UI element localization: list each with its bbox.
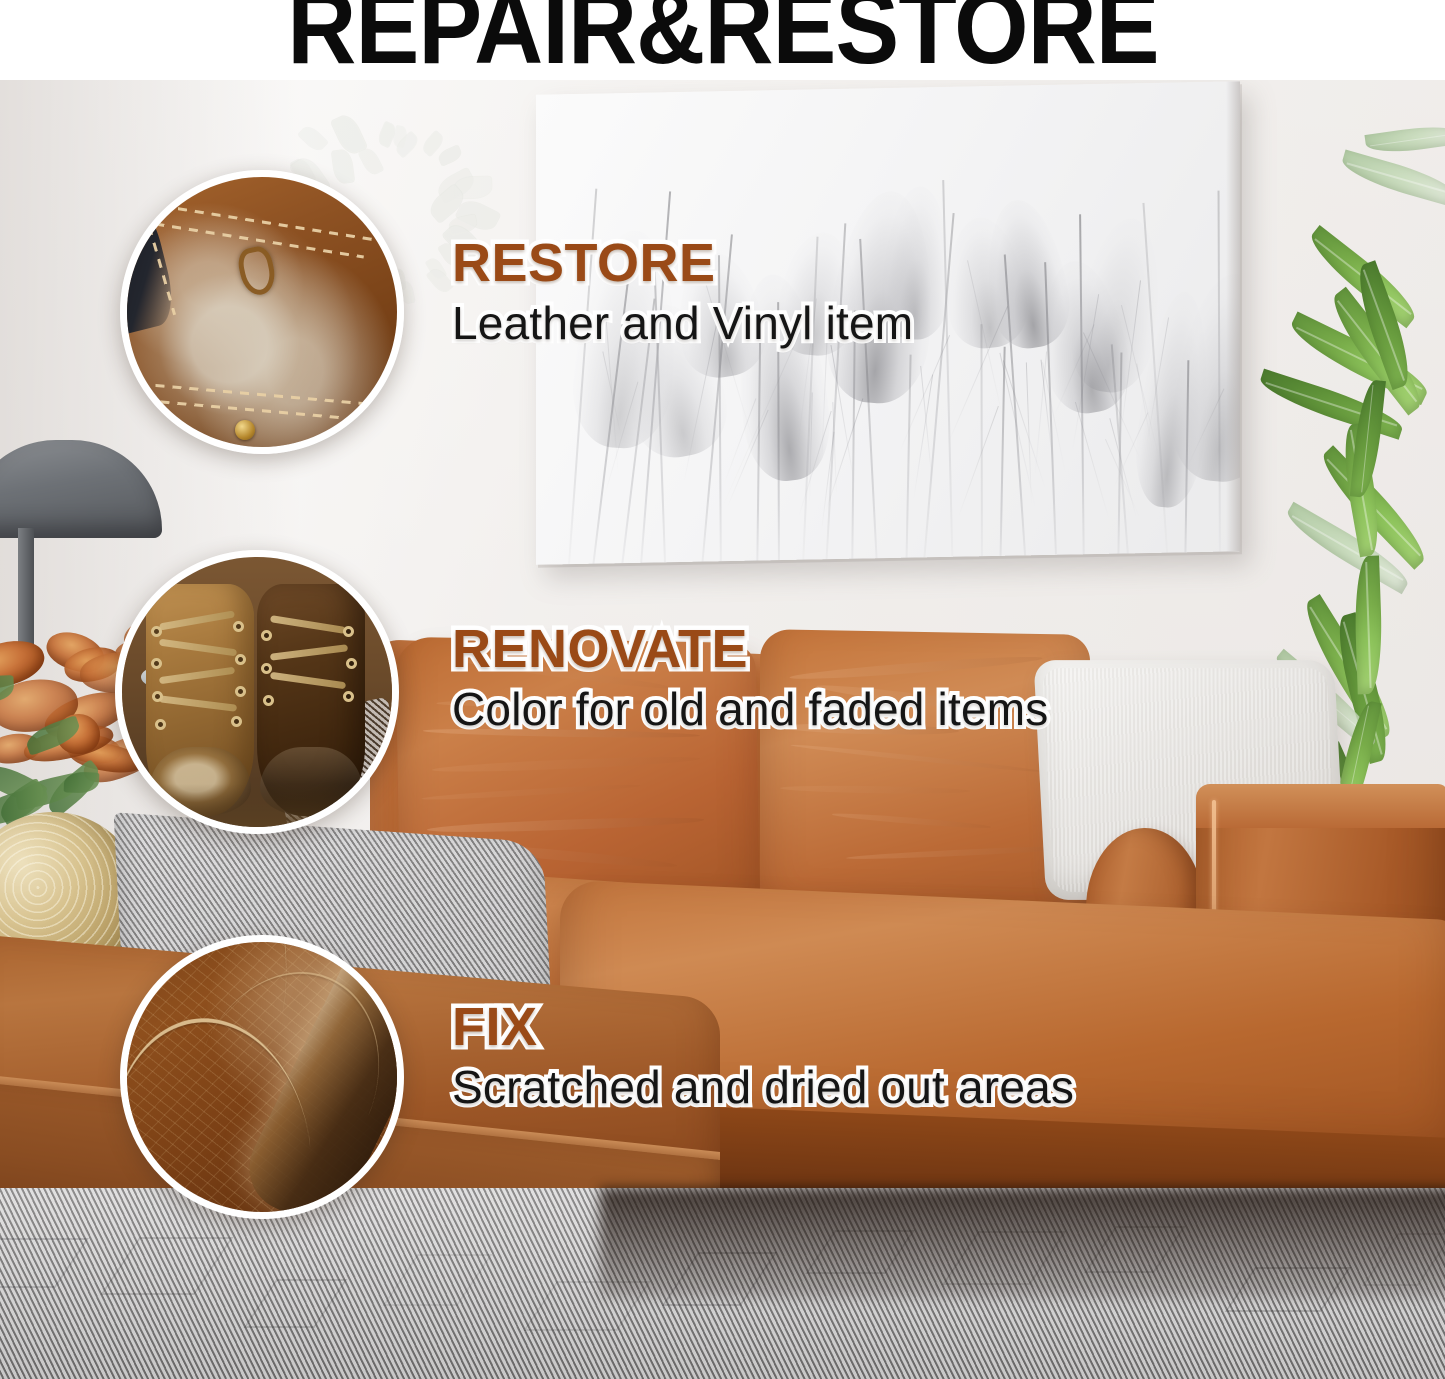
inset-renovate-image <box>115 550 399 834</box>
boot-lace <box>270 615 346 634</box>
feature-headline-fix: FIX <box>452 1000 1074 1054</box>
plant-leaf-vein <box>1361 385 1374 493</box>
feature-headline-renovate: RENOVATE <box>452 622 1048 676</box>
cushion-crease <box>832 811 991 829</box>
boot-eyelet <box>152 691 163 702</box>
boot-lace <box>159 667 235 684</box>
sofa-arm-top <box>1196 784 1445 828</box>
cushion-crease <box>791 743 1045 775</box>
wall-decor-leaf <box>298 124 328 153</box>
art-stem <box>999 347 1006 565</box>
boot-lace <box>159 610 235 630</box>
boot-eyelet <box>263 695 274 706</box>
plant-leaf <box>1339 150 1445 208</box>
boot-lace <box>270 672 346 689</box>
plant-leaf <box>1364 121 1445 156</box>
feature-subline-renovate: Color for old and faded items <box>452 684 1048 735</box>
cushion-crease <box>431 754 700 775</box>
title-banner: REPAIR&RESTORE <box>0 0 1445 80</box>
boots-floor <box>122 784 392 827</box>
wall-decor-leaf <box>426 266 453 294</box>
boot-eyelet <box>346 658 357 669</box>
plant-leaf <box>1353 556 1384 695</box>
inset-fix-image <box>120 935 404 1219</box>
feature-subline-fix: Scratched and dried out areas <box>452 1062 1074 1113</box>
page-title: REPAIR&RESTORE <box>287 0 1158 80</box>
boot-faded <box>146 584 254 816</box>
boot-restored <box>257 584 365 816</box>
cushion-crease <box>426 815 704 835</box>
rug-motif <box>244 1279 348 1328</box>
wall-decor-leaf <box>331 113 366 157</box>
art-wisp <box>1034 352 1047 481</box>
brass-stud <box>235 420 255 440</box>
rug-shadow <box>600 1188 1445 1298</box>
cushion-crease <box>422 783 641 803</box>
feature-text-renovate: RENOVATE Color for old and faded items <box>452 622 1048 735</box>
boot-eyelet <box>235 654 246 665</box>
wall-decor-leaf <box>359 147 384 177</box>
boot-eyelet <box>343 626 354 637</box>
boot-lace <box>270 644 348 660</box>
plant-leaf-vein <box>1365 562 1371 689</box>
boot-eyelet <box>155 719 166 730</box>
plant-leaf-vein <box>1369 132 1445 146</box>
art-wisp <box>1074 402 1108 518</box>
art-wisp <box>999 353 1036 509</box>
boot-eyelet <box>261 630 272 641</box>
boot-eyelet <box>235 686 246 697</box>
cushion-crease <box>780 785 970 795</box>
boot-eyelet <box>233 621 244 632</box>
boot-lace <box>159 695 237 711</box>
wall-decor-leaf <box>437 145 463 166</box>
boot-eyelet <box>151 626 162 637</box>
feature-subline-restore: Leather and Vinyl item <box>452 298 913 349</box>
boot-lace <box>159 639 237 657</box>
inset-restore-image <box>120 170 404 454</box>
plant-leaf-vein <box>1347 163 1445 195</box>
rug-motif <box>382 1254 492 1306</box>
boot-eyelet <box>151 658 162 669</box>
feature-text-fix: FIX Scratched and dried out areas <box>452 1000 1074 1113</box>
rug-motif <box>101 1237 234 1295</box>
feature-text-restore: RESTORE Leather and Vinyl item <box>452 236 913 349</box>
boot-eyelet <box>231 716 242 727</box>
art-wisp <box>957 406 999 520</box>
feature-headline-restore: RESTORE <box>452 236 913 290</box>
flower-leaf <box>64 771 99 793</box>
boot-eyelet <box>343 691 354 702</box>
rug-motif <box>0 1238 89 1288</box>
